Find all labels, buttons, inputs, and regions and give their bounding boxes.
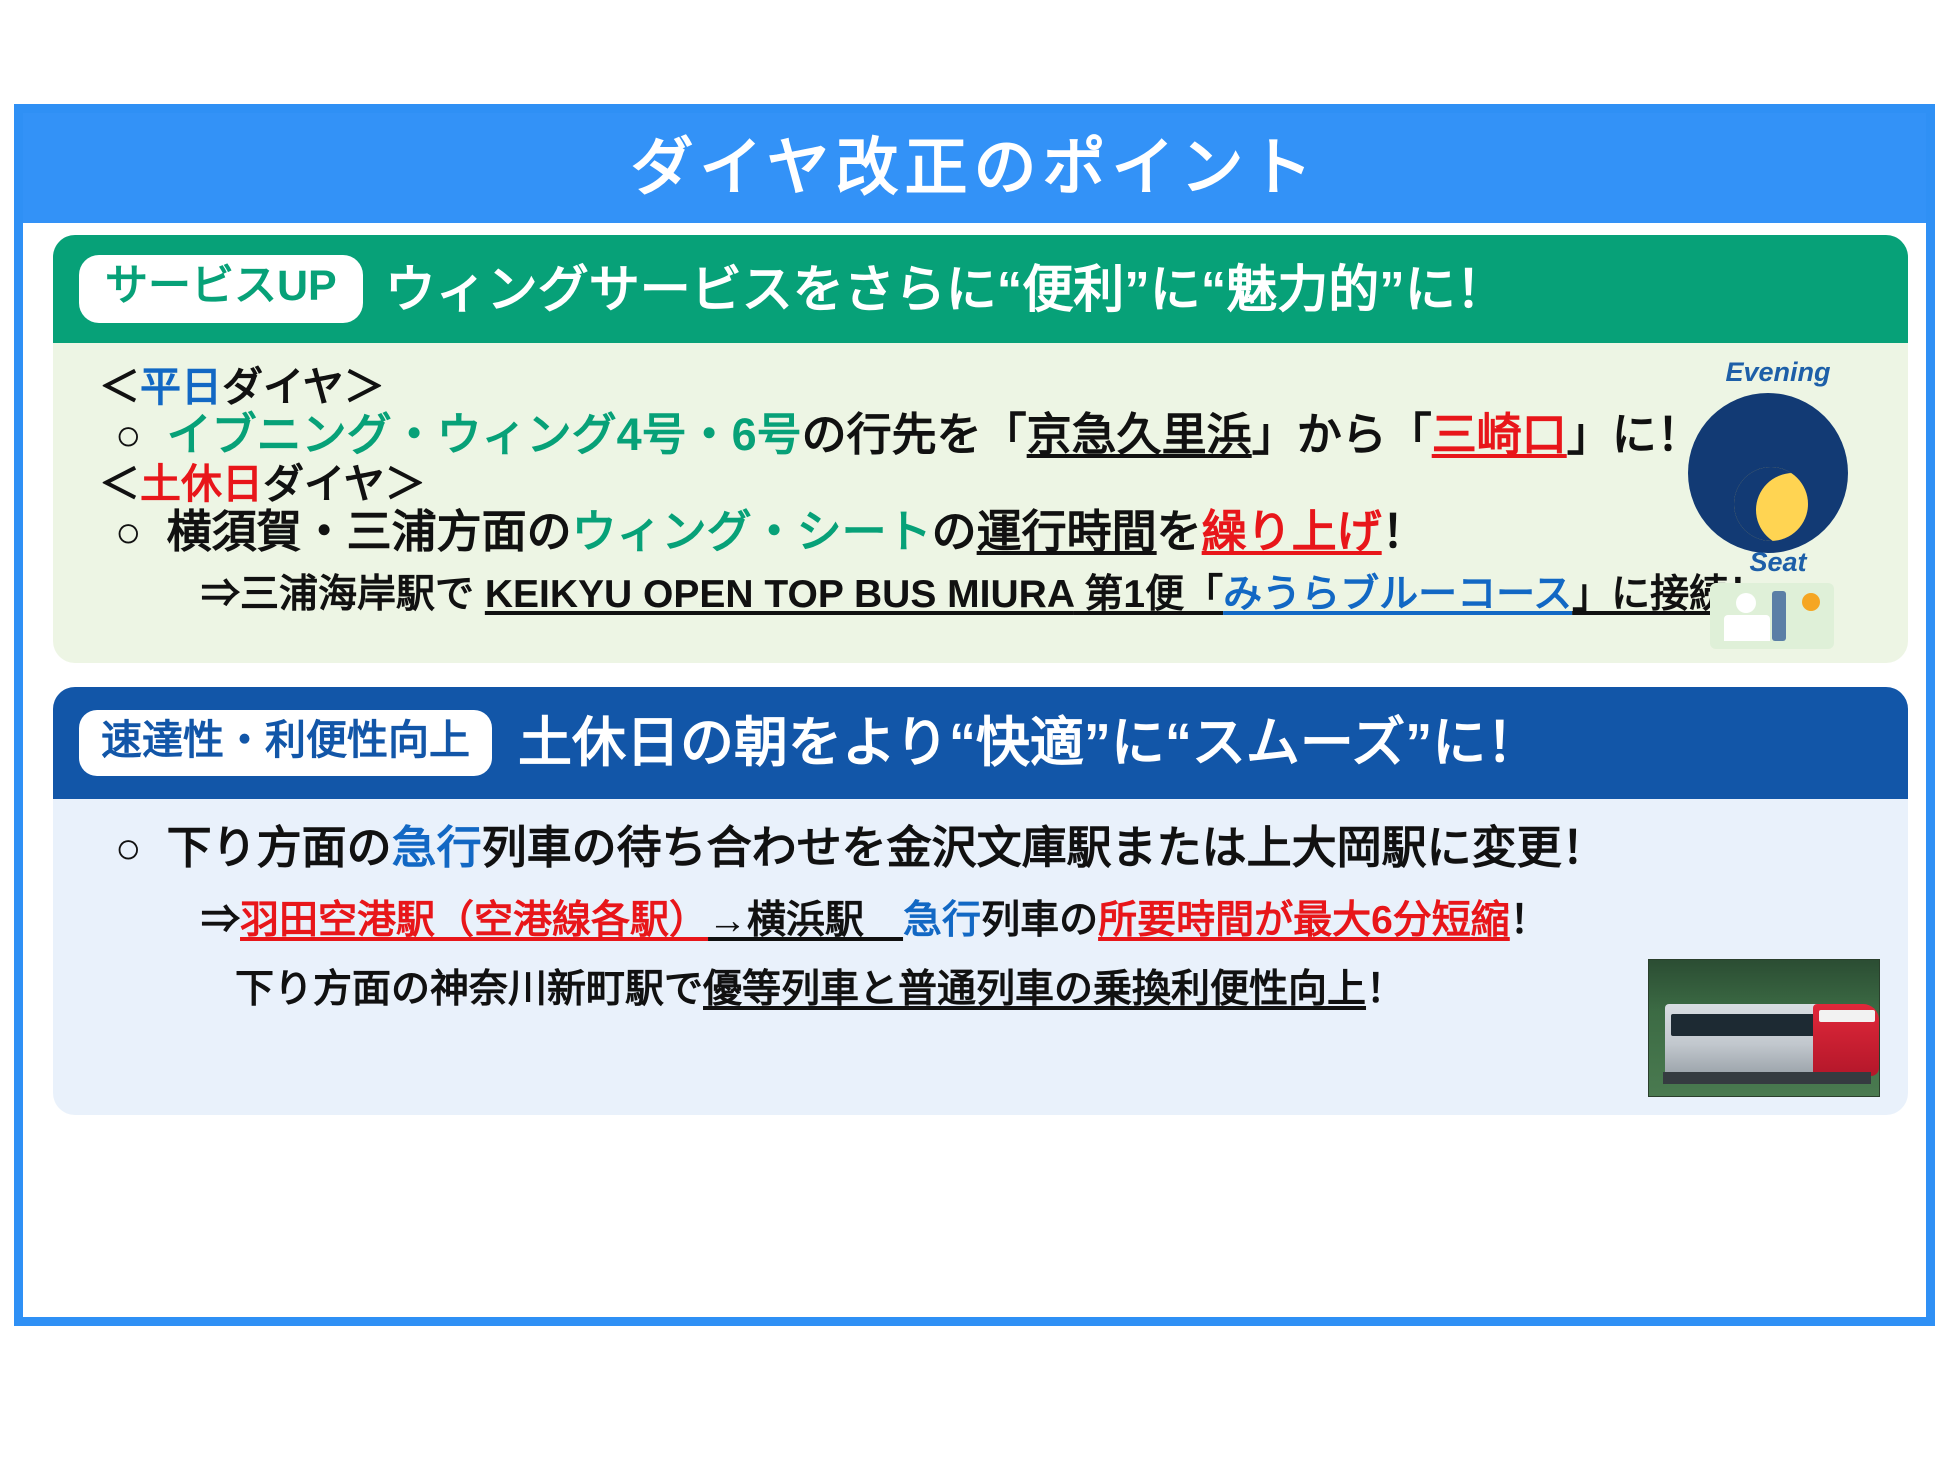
bullet1-text4: 」から「 [1252, 409, 1432, 460]
train-underframe [1663, 1072, 1871, 1084]
night-circle-icon [1688, 393, 1848, 553]
old-destination: 京急久里浜 [1027, 409, 1252, 460]
weekday-label-open: ＜ [99, 364, 140, 410]
speed-bullet1-text3: 列車の待ち合わせを金沢文庫駅または上大岡駅に変更！ [482, 822, 1607, 873]
list-item: ○ 横須賀・三浦方面のウィング・シートの運行時間を繰り上げ！ [115, 509, 1908, 555]
haneda-airport-label: 羽田空港駅（空港線各駅） [240, 899, 708, 942]
service-up-headline: ウィングサービスをさらに“便利”に“魅力的”に！ [385, 264, 1507, 315]
transfer-convenience-label: 優等列車と普通列車の乗換利便性向上 [703, 968, 1366, 1011]
miura-blue-course-label: みうらブルーコース [1223, 573, 1572, 616]
bullet2-text1: 横須賀・三浦方面の [167, 506, 572, 557]
bullet2-text5: を [1157, 506, 1202, 557]
holiday-label-highlight: 土休日 [140, 461, 263, 507]
person-head-icon [1736, 593, 1756, 613]
weekday-label-highlight: 平日 [140, 364, 222, 410]
page-title: ダイヤ改正のポイント [630, 137, 1318, 200]
new-destination: 三崎口 [1432, 409, 1567, 460]
list-item: ○ イブニング・ウィング4号・6号の行先を「京急久里浜」から「三崎口」に！ [115, 412, 1908, 458]
list-item: ○ 下り方面の急行列車の待ち合わせを金沢文庫駅または上大岡駅に変更！ [115, 825, 1908, 871]
speed-arrow1-text4: 列車の [981, 899, 1098, 942]
speed-arrow1-text6: ！ [1510, 899, 1549, 942]
bullet2-text3: の [932, 506, 977, 557]
slide-title-bar: ダイヤ改正のポイント [23, 113, 1926, 223]
holiday-timetable-label: ＜土休日ダイヤ＞ [99, 464, 1908, 505]
holiday-label-open: ＜ [99, 461, 140, 507]
list-item-arrow: ⇒羽田空港駅（空港線各駅）→横浜駅 急行列車の所要時間が最大6分短縮！ [201, 901, 1908, 940]
person-body-icon [1724, 615, 1770, 641]
arrow-right-icon: ⇒ [201, 573, 240, 616]
crescent-moon-icon [1734, 467, 1808, 541]
bullet1-text2: の行先を「 [802, 409, 1027, 460]
holiday-label-close: ダイヤ＞ [263, 461, 426, 507]
logo-label-seat: Seat [1678, 547, 1878, 578]
express-label: 急行 [903, 899, 981, 942]
bullet-circle-icon: ○ [115, 508, 142, 557]
arrow1-text3: 第1便「 [1074, 573, 1224, 616]
wing-seat-label: ウィング・シート [572, 506, 932, 557]
service-up-body: ＜平日ダイヤ＞ ○ イブニング・ウィング4号・6号の行先を「京急久里浜」から「三… [53, 343, 1908, 663]
open-top-bus-name: KEIKYU OPEN TOP BUS MIURA [485, 573, 1074, 616]
bullet-circle-icon: ○ [115, 824, 142, 873]
status-badge-speed-convenience: 速達性・利便性向上 [79, 710, 492, 775]
content-frame: ダイヤ改正のポイント サービスUP ウィングサービスをさらに“便利”に“魅力的”… [14, 104, 1935, 1326]
arrow1-text1: 三浦海岸駅で [240, 573, 485, 616]
train-photo [1648, 959, 1880, 1097]
evening-wing-trains: イブニング・ウィング4号・6号 [167, 409, 802, 460]
slide-root: ダイヤ改正のポイント サービスUP ウィングサービスをさらに“便利”に“魅力的”… [0, 0, 1949, 1461]
weekday-label-close: ダイヤ＞ [222, 364, 385, 410]
speed-convenience-headline: 土休日の朝をより“快適”に“スムーズ”に！ [518, 716, 1540, 770]
service-up-header: サービスUP ウィングサービスをさらに“便利”に“魅力的”に！ [53, 235, 1908, 343]
sun-icon [1802, 593, 1820, 611]
section-service-up: サービスUP ウィングサービスをさらに“便利”に“魅力的”に！ ＜平日ダイヤ＞ … [53, 235, 1908, 663]
move-earlier-label: 繰り上げ [1202, 506, 1382, 557]
speed-convenience-header: 速達性・利便性向上 土休日の朝をより“快適”に“スムーズ”に！ [53, 687, 1908, 799]
yokohama-station-label: →横浜駅 [708, 899, 903, 942]
train-front-stripe [1819, 1010, 1875, 1022]
speed-line3-text1: 下り方面の神奈川新町駅で [235, 968, 703, 1011]
evening-seat-logo: Evening Seat [1670, 351, 1882, 651]
status-badge-service-up: サービスUP [79, 255, 363, 322]
express-label: 急行 [392, 822, 482, 873]
speed-line3-text3: ！ [1366, 968, 1405, 1011]
bullet2-text7: ！ [1382, 506, 1427, 557]
list-item-arrow: ⇒三浦海岸駅で KEIKYU OPEN TOP BUS MIURA 第1便「みう… [201, 575, 1908, 614]
seat-icon [1710, 583, 1834, 649]
operation-time-label: 運行時間 [977, 506, 1157, 557]
time-saving-label: 所要時間が最大6分短縮 [1098, 899, 1510, 942]
weekday-timetable-label: ＜平日ダイヤ＞ [99, 367, 1908, 408]
seat-back-icon [1772, 591, 1786, 641]
train-windows [1671, 1014, 1821, 1036]
bullet-circle-icon: ○ [115, 411, 142, 460]
section-speed-convenience: 速達性・利便性向上 土休日の朝をより“快適”に“スムーズ”に！ ○ 下り方面の急… [53, 687, 1908, 1115]
arrow-right-icon: ⇒ [201, 899, 240, 942]
speed-bullet1-text1: 下り方面の [167, 822, 392, 873]
logo-label-evening: Evening [1678, 357, 1878, 388]
speed-convenience-body: ○ 下り方面の急行列車の待ち合わせを金沢文庫駅または上大岡駅に変更！ ⇒羽田空港… [53, 799, 1908, 1115]
